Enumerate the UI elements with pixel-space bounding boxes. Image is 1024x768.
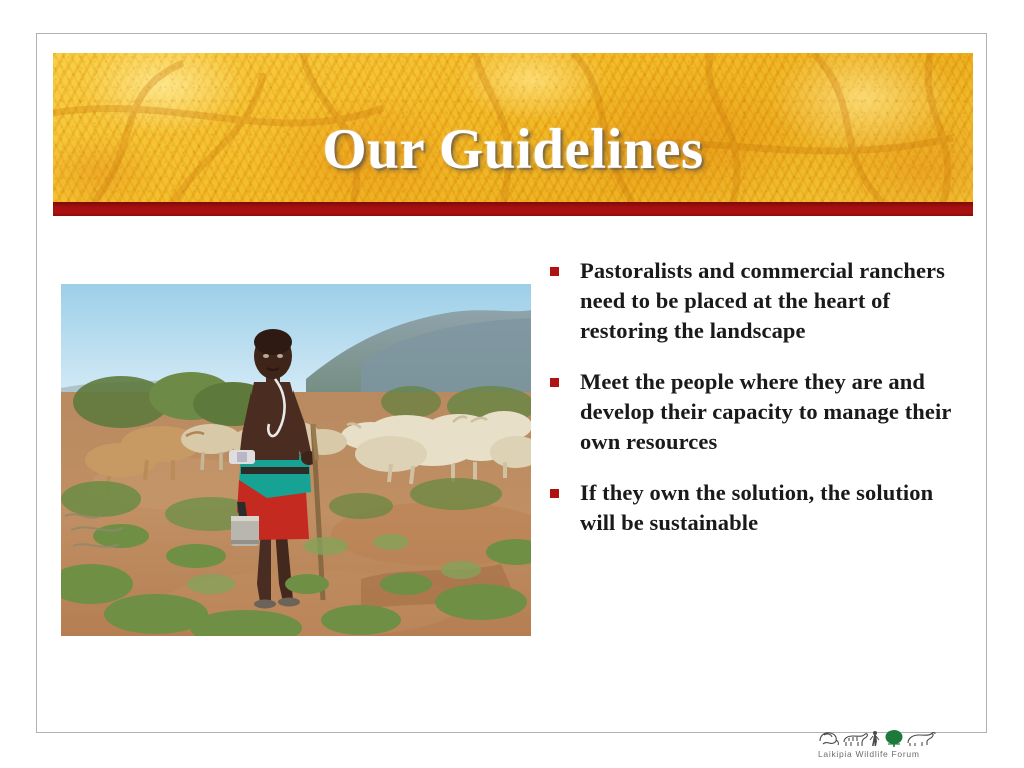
- buffalo-icon: [908, 733, 935, 747]
- photo-illustration: [61, 284, 531, 636]
- laikipia-wildlife-forum-logo: Laikipia Wildlife Forum: [818, 729, 943, 763]
- elephant-icon: [820, 733, 838, 745]
- person-icon: [870, 731, 879, 746]
- acacia-tree-icon: [886, 730, 903, 747]
- title-banner: Our Guidelines: [53, 53, 973, 202]
- bullet-text: Pastoralists and commercial ranchers nee…: [580, 256, 962, 346]
- list-item: Meet the people where they are and devel…: [550, 367, 962, 457]
- slide-photo: [61, 284, 531, 636]
- square-bullet-icon: [550, 378, 559, 387]
- zebra-icon: [844, 734, 867, 746]
- logo-animal-icons: [818, 729, 936, 748]
- logo-caption: Laikipia Wildlife Forum: [818, 749, 943, 759]
- list-item: If they own the solution, the solution w…: [550, 478, 962, 538]
- square-bullet-icon: [550, 489, 559, 498]
- title-underline-bar: [53, 202, 973, 216]
- slide-frame: Our Guidelines: [36, 33, 987, 733]
- list-item: Pastoralists and commercial ranchers nee…: [550, 256, 962, 346]
- bullet-text: If they own the solution, the solution w…: [580, 478, 962, 538]
- bullet-text: Meet the people where they are and devel…: [580, 367, 962, 457]
- square-bullet-icon: [550, 267, 559, 276]
- page-title: Our Guidelines: [53, 121, 973, 178]
- bullet-list: Pastoralists and commercial ranchers nee…: [550, 256, 962, 559]
